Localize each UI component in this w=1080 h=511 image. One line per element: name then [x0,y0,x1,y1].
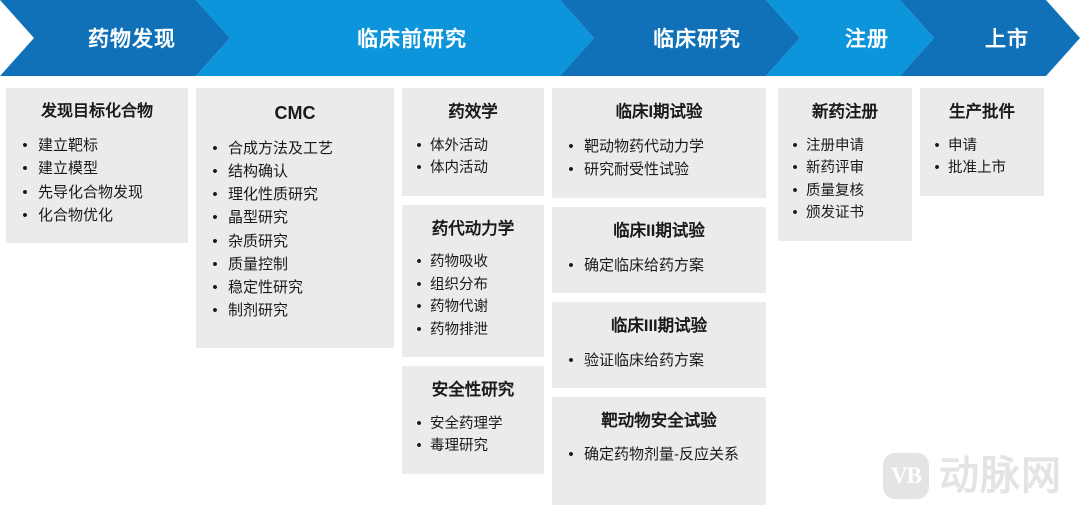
bullet-text: 质量控制 [228,253,388,276]
bullet-text: 体内活动 [430,157,538,179]
bullet-item: •验证临床给药方案 [558,349,760,372]
stage-label: 临床研究 [594,23,800,53]
bullet-text: 稳定性研究 [228,276,388,299]
bullet-text: 注册申请 [806,135,906,157]
bullet-dot-icon: • [784,135,806,157]
bullet-item: •合成方法及工艺 [202,137,388,160]
card-columns: 发现目标化合物•建立靶标•建立模型•先导化合物发现•化合物优化CMC•合成方法及… [0,88,1080,511]
bullet-list: •靶动物药代动力学•研究耐受性试验 [558,135,760,182]
bullet-dot-icon: • [558,135,584,158]
bullet-dot-icon: • [12,157,38,180]
bullet-text: 确定临床给药方案 [584,254,760,277]
bullet-text: 先导化合物发现 [38,181,182,204]
stage-3[interactable]: 临床研究 [594,0,800,76]
bullet-dot-icon: • [408,274,430,296]
bullet-dot-icon: • [12,181,38,204]
bullet-dot-icon: • [926,157,948,179]
bullet-item: •确定药物剂量-反应关系 [558,443,760,466]
bullet-item: •组织分布 [408,274,538,296]
card-title: 药效学 [408,102,538,123]
bullet-text: 毒理研究 [430,435,538,457]
card-cmc-1[interactable]: CMC•合成方法及工艺•结构确认•理化性质研究•晶型研究•杂质研究•质量控制•稳… [196,88,394,348]
bullet-item: •研究耐受性试验 [558,158,760,181]
bullet-text: 化合物优化 [38,204,182,227]
column-registration: 新药注册•注册申请•新药评审•质量复核•颁发证书 [778,88,912,241]
bullet-text: 建立靶标 [38,134,182,157]
bullet-item: •批准上市 [926,157,1038,179]
bullet-item: •理化性质研究 [202,183,388,206]
bullet-item: •建立靶标 [12,134,182,157]
bullet-dot-icon: • [408,413,430,435]
watermark-logo: VB 动脉网 [883,453,1062,499]
watermark-badge-icon: VB [883,453,929,499]
stage-label: 注册 [800,23,934,53]
bullet-item: •结构确认 [202,160,388,183]
bullet-text: 研究耐受性试验 [584,158,760,181]
bullet-dot-icon: • [408,135,430,157]
bullet-text: 安全药理学 [430,413,538,435]
bullet-text: 药物代谢 [430,296,538,318]
stage-label: 上市 [934,23,1080,53]
bullet-dot-icon: • [408,251,430,273]
bullet-list: •申请•批准上市 [926,135,1038,180]
bullet-dot-icon: • [408,157,430,179]
column-preclinical-studies: 药效学•体外活动•体内活动药代动力学•药物吸收•组织分布•药物代谢•药物排泄安全… [402,88,544,474]
card-preclinical-studies-2[interactable]: 药代动力学•药物吸收•组织分布•药物代谢•药物排泄 [402,205,544,358]
bullet-list: •确定临床给药方案 [558,254,760,277]
bullet-item: •建立模型 [12,157,182,180]
card-title: 安全性研究 [408,380,538,401]
card-title: CMC [202,102,388,125]
bullet-dot-icon: • [202,137,228,160]
card-title: 临床III期试验 [558,316,760,337]
bullet-text: 制剂研究 [228,299,388,322]
bullet-item: •药物排泄 [408,319,538,341]
bullet-dot-icon: • [408,296,430,318]
card-clinical-trials-2[interactable]: 临床II期试验•确定临床给药方案 [552,207,766,293]
bullet-list: •确定药物剂量-反应关系 [558,443,760,466]
card-title: 发现目标化合物 [12,102,182,122]
bullet-dot-icon: • [202,253,228,276]
bullet-list: •合成方法及工艺•结构确认•理化性质研究•晶型研究•杂质研究•质量控制•稳定性研… [202,137,388,323]
bullet-text: 药物吸收 [430,251,538,273]
bullet-text: 结构确认 [228,160,388,183]
bullet-text: 颁发证书 [806,202,906,224]
bullet-item: •质量控制 [202,253,388,276]
bullet-item: •制剂研究 [202,299,388,322]
bullet-text: 新药评审 [806,157,906,179]
bullet-dot-icon: • [408,319,430,341]
column-clinical-trials: 临床I期试验•靶动物药代动力学•研究耐受性试验临床II期试验•确定临床给药方案临… [552,88,766,505]
bullet-item: •体外活动 [408,135,538,157]
bullet-item: •确定临床给药方案 [558,254,760,277]
bullet-text: 批准上市 [948,157,1038,179]
bullet-item: •化合物优化 [12,204,182,227]
stage-label: 临床前研究 [230,23,594,53]
bullet-text: 靶动物药代动力学 [584,135,760,158]
bullet-item: •靶动物药代动力学 [558,135,760,158]
bullet-item: •质量复核 [784,180,906,202]
bullet-item: •申请 [926,135,1038,157]
column-market-launch: 生产批件•申请•批准上市 [920,88,1044,196]
bullet-dot-icon: • [784,202,806,224]
process-stage-ribbon: 药物发现临床前研究临床研究注册上市 [0,0,1080,76]
bullet-dot-icon: • [558,254,584,277]
card-title: 新药注册 [784,102,906,123]
bullet-text: 药物排泄 [430,319,538,341]
bullet-dot-icon: • [202,299,228,322]
bullet-item: •体内活动 [408,157,538,179]
watermark-text: 动脉网 [939,456,1062,496]
bullet-item: •杂质研究 [202,230,388,253]
bullet-text: 建立模型 [38,157,182,180]
bullet-dot-icon: • [558,158,584,181]
bullet-item: •晶型研究 [202,206,388,229]
stage-5[interactable]: 上市 [934,0,1080,76]
bullet-text: 质量复核 [806,180,906,202]
card-clinical-trials-3[interactable]: 临床III期试验•验证临床给药方案 [552,302,766,388]
card-preclinical-studies-3[interactable]: 安全性研究•安全药理学•毒理研究 [402,366,544,474]
card-title: 临床II期试验 [558,221,760,242]
bullet-text: 理化性质研究 [228,183,388,206]
bullet-text: 验证临床给药方案 [584,349,760,372]
bullet-list: •验证临床给药方案 [558,349,760,372]
bullet-list: •药物吸收•组织分布•药物代谢•药物排泄 [408,251,538,341]
stage-4[interactable]: 注册 [800,0,934,76]
stage-1[interactable]: 药物发现 [34,0,230,76]
bullet-item: •药物代谢 [408,296,538,318]
column-drug-discovery: 发现目标化合物•建立靶标•建立模型•先导化合物发现•化合物优化 [6,88,188,243]
bullet-item: •药物吸收 [408,251,538,273]
bullet-item: •颁发证书 [784,202,906,224]
bullet-item: •先导化合物发现 [12,181,182,204]
card-title: 临床I期试验 [558,102,760,123]
bullet-dot-icon: • [202,160,228,183]
card-market-launch-1[interactable]: 生产批件•申请•批准上市 [920,88,1044,196]
bullet-dot-icon: • [202,206,228,229]
bullet-dot-icon: • [202,230,228,253]
bullet-text: 杂质研究 [228,230,388,253]
bullet-dot-icon: • [558,443,584,466]
bullet-text: 申请 [948,135,1038,157]
bullet-dot-icon: • [926,135,948,157]
bullet-dot-icon: • [558,349,584,372]
card-drug-discovery-1[interactable]: 发现目标化合物•建立靶标•建立模型•先导化合物发现•化合物优化 [6,88,188,243]
bullet-text: 合成方法及工艺 [228,137,388,160]
card-registration-1[interactable]: 新药注册•注册申请•新药评审•质量复核•颁发证书 [778,88,912,241]
bullet-list: •安全药理学•毒理研究 [408,413,538,458]
bullet-item: •新药评审 [784,157,906,179]
bullet-dot-icon: • [202,276,228,299]
bullet-dot-icon: • [202,183,228,206]
column-cmc: CMC•合成方法及工艺•结构确认•理化性质研究•晶型研究•杂质研究•质量控制•稳… [196,88,394,348]
bullet-list: •体外活动•体内活动 [408,135,538,180]
bullet-text: 晶型研究 [228,206,388,229]
bullet-text: 确定药物剂量-反应关系 [584,443,760,466]
bullet-text: 体外活动 [430,135,538,157]
bullet-dot-icon: • [784,180,806,202]
bullet-item: •安全药理学 [408,413,538,435]
card-clinical-trials-4[interactable]: 靶动物安全试验•确定药物剂量-反应关系 [552,397,766,505]
bullet-dot-icon: • [784,157,806,179]
card-preclinical-studies-1[interactable]: 药效学•体外活动•体内活动 [402,88,544,196]
bullet-text: 组织分布 [430,274,538,296]
card-title: 生产批件 [926,102,1038,123]
card-title: 药代动力学 [408,219,538,240]
bullet-dot-icon: • [12,204,38,227]
stage-label: 药物发现 [34,23,230,53]
stage-2[interactable]: 临床前研究 [230,0,594,76]
bullet-item: •毒理研究 [408,435,538,457]
card-title: 靶动物安全试验 [558,411,760,432]
bullet-list: •注册申请•新药评审•质量复核•颁发证书 [784,135,906,225]
bullet-item: •注册申请 [784,135,906,157]
bullet-list: •建立靶标•建立模型•先导化合物发现•化合物优化 [12,134,182,227]
bullet-item: •稳定性研究 [202,276,388,299]
bullet-dot-icon: • [12,134,38,157]
bullet-dot-icon: • [408,435,430,457]
card-clinical-trials-1[interactable]: 临床I期试验•靶动物药代动力学•研究耐受性试验 [552,88,766,198]
